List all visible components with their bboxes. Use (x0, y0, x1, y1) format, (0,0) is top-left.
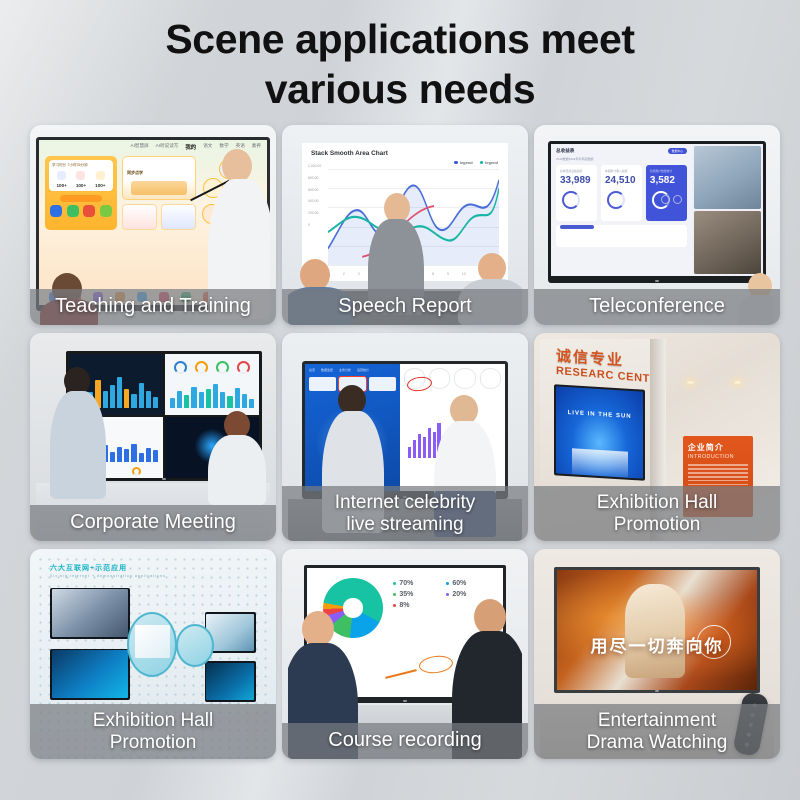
dashboard-panel: 总收益表 数据中心 0140数据2024年半年度数据 总体经营业绩指标 33,9… (551, 144, 692, 276)
exhibit-title: 六大互联网+示范应用 Six big Internet + demonstrat… (50, 563, 166, 578)
scene-grid: AI智慧屏 AI听说读写 我的 语文 数学 英语 素养 学习时长 7小时35分钟 (30, 125, 785, 759)
monitor-frame: 总收益表 数据中心 0140数据2024年半年度数据 总体经营业绩指标 33,9… (548, 141, 766, 283)
scene-card-entertainment[interactable]: 用尽一切奔向你 Entertainment Drama Watching (534, 549, 780, 759)
video-tile-0[interactable] (694, 146, 761, 209)
module-screen[interactable] (135, 625, 170, 658)
scene-card-exhibition-orange[interactable]: 诚信专业 RESEARC CENT LIVE IN THE SUN 企业简介 I… (534, 333, 780, 541)
app-icon-3[interactable] (100, 205, 112, 217)
edu-study-time: 学习时长 7小时35分钟 (52, 163, 110, 168)
legend-value-0: 70% (399, 580, 413, 587)
caption-line-1: Exhibition Hall (538, 492, 776, 513)
edu-app-icons[interactable] (49, 205, 113, 217)
kpi-card-1[interactable]: 本期累计收入总额 24,510 (601, 165, 642, 221)
dashboard-table (556, 225, 687, 247)
scene-card-corporate-meeting[interactable]: Corporate Meeting (30, 333, 276, 541)
y-tick-2: 600.00 (308, 189, 321, 192)
scene-card-exhibition-cyan[interactable]: 六大互联网+示范应用 Six big Internet + demonstrat… (30, 549, 276, 759)
drama-title: 用尽一切奔向你 (573, 632, 741, 657)
scene-card-teaching[interactable]: AI智慧屏 AI听说读写 我的 语文 数学 英语 素养 学习时长 7小时35分钟 (30, 125, 276, 325)
module-lobe-small (176, 624, 214, 667)
bar-chart-1 (170, 376, 255, 408)
edu-sub-cards[interactable] (122, 204, 196, 230)
dashboard-title: 总收益表 (556, 148, 574, 154)
page-title: Scene applications meet various needs (0, 14, 800, 114)
quadrant-gauges[interactable] (165, 354, 259, 415)
card-caption: Teaching and Training (30, 289, 276, 325)
dashboard-badge[interactable]: 数据中心 (668, 148, 687, 154)
card-caption: Course recording (282, 723, 528, 759)
card-caption: Speech Report (282, 289, 528, 325)
card-caption: Exhibition Hall Promotion (534, 486, 780, 541)
presenter-body (50, 391, 106, 499)
legend-item-1: 60% (446, 580, 495, 587)
dashboard-subtitle: 0140数据2024年半年度数据 (556, 157, 687, 161)
kpi-value-0: 33,989 (560, 175, 593, 186)
gauge-row (171, 361, 254, 374)
video-grid (692, 144, 763, 276)
edu-sync-card[interactable]: 同步点学 (122, 156, 196, 200)
attendee-figure (208, 411, 266, 501)
scene-card-course-recording[interactable]: 70% 60% 35% 20% 8% (282, 549, 528, 759)
card-caption: Exhibition Hall Promotion (30, 704, 276, 759)
caption-line-2: Promotion (34, 732, 272, 753)
map-nav-2[interactable]: 业务分析 (339, 368, 351, 372)
nav-item-0[interactable]: AI智慧屏 (131, 143, 149, 151)
kpi-row: 总体经营业绩指标 33,989 本期累计收入总额 24,510 (556, 165, 687, 221)
edu-stats-card[interactable]: 学习时长 7小时35分钟 100+ 100+ (45, 156, 117, 230)
y-tick-5: 0 (308, 224, 321, 227)
caption-line-2: live streaming (286, 514, 524, 535)
caption-line-1: Internet celebrity (286, 492, 524, 513)
ceiling-light-0 (687, 381, 694, 384)
legend-item-4: 8% (393, 602, 442, 609)
map-nav-1[interactable]: 数据监控 (321, 368, 333, 372)
legend-item-0: 70% (393, 580, 442, 587)
kpi-card-0[interactable]: 总体经营业绩指标 33,989 (556, 165, 597, 221)
kpi-value-2: 3,582 (650, 175, 683, 186)
legend-swatch-1 (480, 161, 483, 164)
caption-line-2: Drama Watching (538, 732, 776, 753)
app-icon-1[interactable] (67, 205, 79, 217)
dashboard-header: 总收益表 数据中心 (556, 148, 687, 154)
wall-panel-0[interactable] (50, 588, 130, 639)
introduction-body-lines (688, 464, 748, 486)
legend-item-0[interactable]: legend (454, 160, 472, 165)
title-line-2: various needs (0, 64, 800, 114)
card-caption: Entertainment Drama Watching (534, 704, 780, 759)
legend-item-2: 35% (393, 591, 442, 598)
map-nav-0[interactable]: 总览 (309, 368, 315, 372)
edu-mid-column: 同步点学 (122, 156, 196, 230)
legend-label-0: legend (460, 160, 473, 165)
chart-legend[interactable]: legend legend (454, 160, 498, 165)
kpi-mini-rings (661, 195, 682, 204)
kpi-value-1: 24,510 (605, 175, 638, 186)
drama-actor (625, 584, 685, 678)
legend-value-2: 35% (399, 591, 413, 598)
table-row-highlight (560, 225, 594, 229)
kpi-donut-1 (607, 191, 625, 209)
y-tick-0: 1,000.00 (308, 165, 321, 168)
exhibit-title-cn: 六大互联网+示范应用 (50, 565, 127, 572)
caption-line-2: Promotion (538, 514, 776, 535)
caption-line-1: Exhibition Hall (34, 710, 272, 731)
legend-label-1: legend (485, 160, 498, 165)
legend-value-1: 60% (452, 580, 466, 587)
stat-0: 100+ (56, 183, 66, 188)
scene-card-teleconference[interactable]: 总收益表 数据中心 0140数据2024年半年度数据 总体经营业绩指标 33,9… (534, 125, 780, 325)
attendee-body (208, 435, 266, 505)
x-tick-2: 3 (358, 272, 360, 276)
title-line-1: Scene applications meet (165, 16, 634, 62)
badge-icon-blue (57, 171, 66, 180)
wall-display[interactable]: LIVE IN THE SUN (554, 385, 645, 481)
chart-y-axis: 1,000.00 800.00 600.00 400.00 200.00 0 (308, 165, 321, 236)
app-icon-2[interactable] (83, 205, 95, 217)
book-icon (131, 181, 187, 195)
video-tile-1[interactable] (694, 211, 761, 274)
chart-title: Stack Smooth Area Chart (311, 150, 499, 157)
edu-stat-icons (52, 171, 110, 180)
y-tick-1: 800.00 (308, 177, 321, 180)
presenter-left-head (302, 611, 334, 647)
map-nav[interactable]: 总览 数据监控 业务分析 运营统计 (309, 368, 396, 372)
stat-1: 100+ (76, 183, 86, 188)
kpi-label-0: 总体经营业绩指标 (560, 169, 593, 173)
nav-item-1[interactable]: AI听说读写 (156, 143, 179, 151)
wall-panel-1[interactable] (50, 649, 130, 700)
kpi-card-2[interactable]: 新增用户数量统计 3,582 (646, 165, 687, 221)
badge-icon-red (76, 171, 85, 180)
caption-line-1: Entertainment (538, 710, 776, 731)
kpi-label-2: 新增用户数量统计 (650, 169, 683, 173)
y-tick-4: 200.00 (308, 212, 321, 215)
wall-display-text: LIVE IN THE SUN (556, 409, 643, 420)
ceiling-light-1 (734, 381, 741, 384)
card-caption: Corporate Meeting (30, 505, 276, 541)
conference-screen: 总收益表 数据中心 0140数据2024年半年度数据 总体经营业绩指标 33,9… (551, 144, 763, 276)
legend-value-3: 20% (452, 591, 466, 598)
drama-scene: 用尽一切奔向你 (557, 570, 757, 690)
edu-sync-title: 同步点学 (127, 170, 143, 175)
x-tick-7: 8 (432, 272, 434, 276)
x-tick-8: 9 (447, 272, 449, 276)
badge-icon-yellow (96, 171, 105, 180)
scene-card-live-streaming[interactable]: 总览 数据监控 业务分析 运营统计 (282, 333, 528, 541)
legend-item-1[interactable]: legend (480, 160, 498, 165)
city-skyline-graphic (572, 449, 628, 478)
wall-display-screen: LIVE IN THE SUN (556, 387, 643, 479)
card-caption: Teleconference (534, 289, 780, 325)
presenter-figure (50, 367, 106, 497)
edu-stat-values: 100+ 100+ 100+ (52, 183, 110, 188)
introduction-title-cn: 企业简介 (688, 442, 748, 453)
card-caption: Internet celebrity live streaming (282, 486, 528, 541)
interactive-display-module[interactable] (127, 612, 214, 677)
poster-root: Scene applications meet various needs AI… (0, 0, 800, 800)
y-tick-3: 400.00 (308, 200, 321, 203)
nav-item-2[interactable]: 我的 (185, 143, 196, 151)
map-nav-3[interactable]: 运营统计 (357, 368, 369, 372)
kpi-label-1: 本期累计收入总额 (605, 169, 638, 173)
edu-sub-card-1[interactable] (161, 204, 196, 230)
introduction-title-en: INTRODUCTION (688, 454, 748, 460)
tv-frame: 用尽一切奔向你 (554, 567, 760, 693)
edu-sub-card-0[interactable] (122, 204, 157, 230)
presenter-right-head (474, 599, 506, 635)
stat-2: 100+ (95, 183, 105, 188)
teacher-head (222, 149, 252, 183)
edu-more-apps-button[interactable] (60, 195, 102, 202)
scene-card-speech-report[interactable]: Stack Smooth Area Chart legend legend 1,… (282, 125, 528, 325)
edu-stats-inner: 学习时长 7小时35分钟 100+ 100+ (49, 160, 113, 191)
legend-item-3: 20% (446, 591, 495, 598)
legend-swatch-0 (454, 161, 457, 164)
app-icon-0[interactable] (50, 205, 62, 217)
legend-value-4: 8% (399, 602, 409, 609)
exhibit-title-en: Six big Internet + demonstration applica… (50, 574, 166, 578)
kpi-donut-0 (562, 191, 580, 209)
